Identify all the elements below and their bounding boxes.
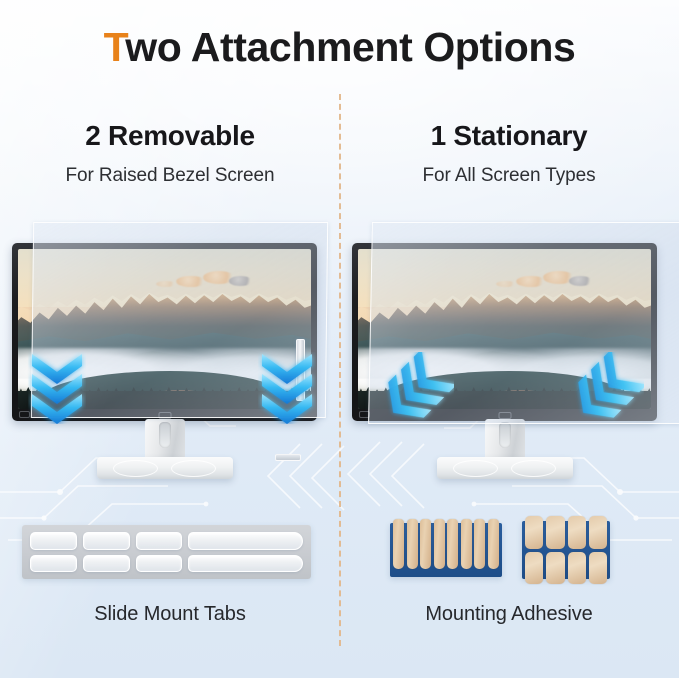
adhesive-strip (461, 519, 472, 569)
slide-mount-tab-chip (30, 532, 77, 550)
heading-stationary: 1 Stationary (349, 120, 669, 152)
monitor-stationary (352, 243, 657, 479)
column-heading-stationary: 1 Stationary For All Screen Types (349, 120, 669, 187)
adhesive-pad (525, 552, 543, 585)
slide-mount-tab-chip (136, 532, 183, 550)
slide-mount-tab-chip (30, 555, 77, 573)
monitor-stand-neck (485, 419, 525, 461)
monitor-indicator-icon (19, 411, 30, 418)
adhesive-pad (568, 516, 586, 549)
wallpaper-foreground (358, 391, 651, 409)
monitor-stand-neck (145, 419, 185, 461)
slide-mount-tabs-tray (22, 525, 311, 579)
slide-mount-tab-chip (136, 555, 183, 573)
slide-mount-tab-chip (188, 532, 303, 550)
adhesive-pad (589, 516, 607, 549)
adhesive-strip (434, 519, 445, 569)
adhesive-strip (474, 519, 485, 569)
adhesive-pad (525, 516, 543, 549)
monitor-screen (358, 249, 651, 409)
monitor-logo-icon (158, 412, 171, 419)
monitor-stand-base (437, 457, 573, 479)
subheading-stationary: For All Screen Types (349, 165, 669, 187)
monitor-bezel (12, 243, 317, 421)
adhesive-strip (488, 519, 499, 569)
column-divider (339, 94, 341, 646)
slide-mount-tab-chip (188, 555, 303, 573)
slide-mount-tab-chip (83, 532, 130, 550)
heading-removable: 2 Removable (10, 120, 330, 152)
wallpaper-cloud (569, 276, 592, 286)
page-title: Two Attachment Options (0, 24, 679, 71)
adhesive-pad (568, 552, 586, 585)
title-accent-letter: T (104, 24, 126, 70)
adhesive-strip (420, 519, 431, 569)
slide-mount-tab-chip (83, 555, 130, 573)
monitor-screen (18, 249, 311, 409)
adhesive-pad-sheet (522, 521, 610, 579)
monitor-removable (12, 243, 317, 479)
adhesive-strip (407, 519, 418, 569)
slide-mount-tab-on-monitor (296, 339, 305, 401)
monitor-indicator-icon (359, 411, 370, 418)
monitor-logo-icon (498, 412, 511, 419)
adhesive-pad (546, 516, 564, 549)
adhesive-strip (393, 519, 404, 569)
infographic-poster: Two Attachment Options 2 Removable For R… (0, 0, 679, 678)
wallpaper-cloud (229, 276, 252, 286)
slide-mount-tab-on-monitor (275, 454, 301, 461)
monitor-stand-base (97, 457, 233, 479)
adhesive-pad (546, 552, 564, 585)
column-heading-removable: 2 Removable For Raised Bezel Screen (10, 120, 330, 187)
caption-slide-mount-tabs: Slide Mount Tabs (10, 603, 330, 626)
title-rest: wo Attachment Options (125, 24, 575, 70)
subheading-removable: For Raised Bezel Screen (10, 165, 330, 187)
adhesive-strip-sheet (390, 523, 502, 577)
adhesive-pad (589, 552, 607, 585)
adhesive-strip (447, 519, 458, 569)
wallpaper-foreground (18, 391, 311, 409)
monitor-bezel (352, 243, 657, 421)
caption-mounting-adhesive: Mounting Adhesive (349, 603, 669, 626)
